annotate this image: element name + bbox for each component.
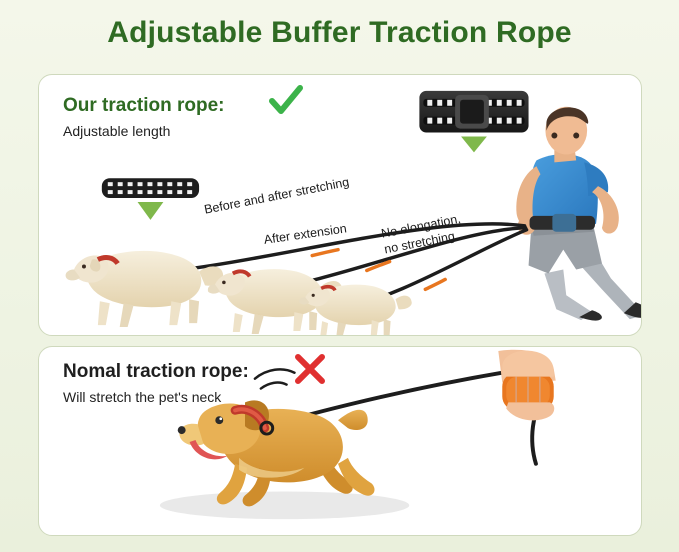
dog-illustration-1 bbox=[66, 251, 224, 327]
pain-marks bbox=[255, 369, 295, 388]
cross-mark-icon bbox=[293, 353, 327, 385]
bottom-panel-heading: Nomal traction rope: bbox=[63, 361, 249, 383]
top-panel-subheading: Adjustable length bbox=[63, 123, 170, 139]
ground-shadow bbox=[160, 491, 409, 519]
bottom-panel: Nomal traction rope: Will stretch the pe… bbox=[38, 346, 642, 536]
top-panel: Our traction rope: Adjustable length Bef… bbox=[38, 74, 642, 336]
check-mark-icon bbox=[269, 85, 303, 117]
bottom-panel-subheading: Will stretch the pet's neck bbox=[63, 389, 221, 405]
top-panel-heading: Our traction rope: bbox=[63, 95, 225, 117]
product-infographic: Adjustable Buffer Traction Rope bbox=[0, 0, 679, 552]
page-title: Adjustable Buffer Traction Rope bbox=[0, 16, 679, 50]
runner-illustration bbox=[516, 107, 641, 321]
belt-closeup bbox=[419, 91, 528, 153]
hand-holding-handle bbox=[498, 350, 555, 421]
rope-closeup bbox=[102, 178, 199, 220]
